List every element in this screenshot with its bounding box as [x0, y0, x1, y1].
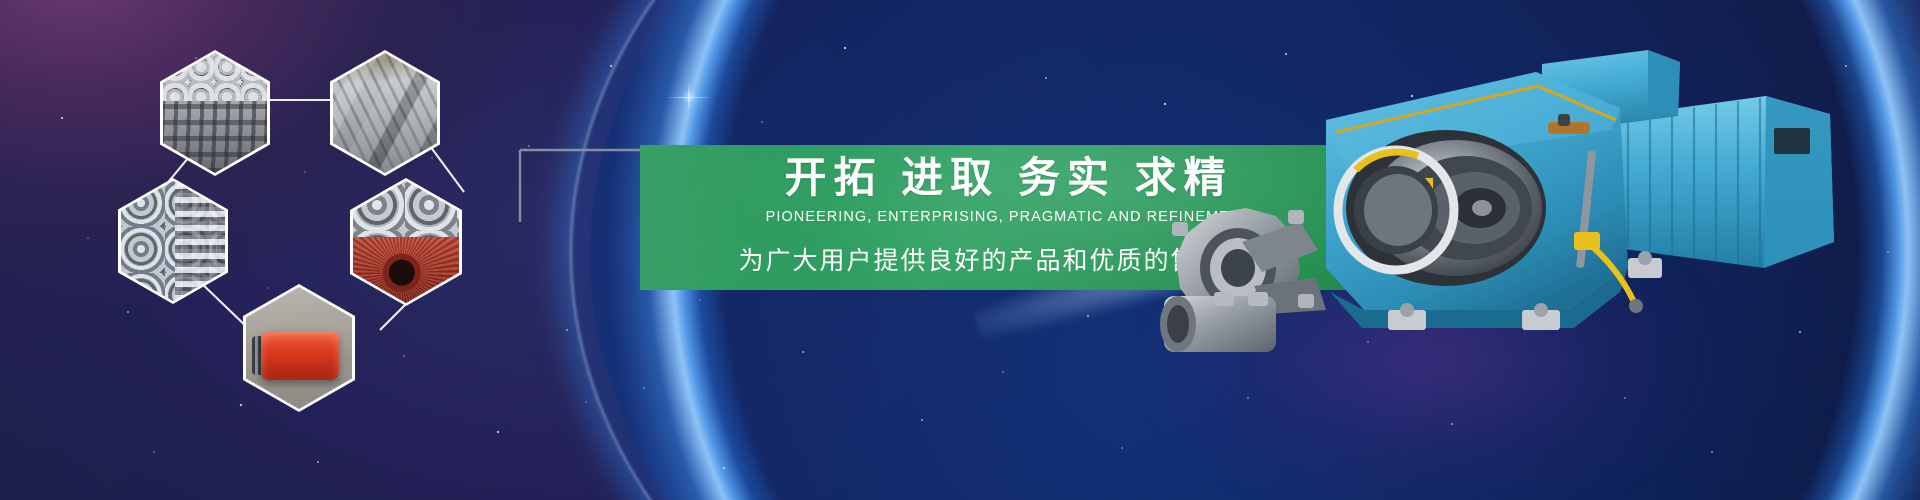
motor-nameplate	[1774, 128, 1810, 154]
machine-bushing-part	[1160, 292, 1276, 352]
machine-motor	[1602, 96, 1834, 268]
product-machine-image	[1150, 10, 1920, 370]
gearbox-bore	[1338, 130, 1546, 286]
banner-stage: 开拓 进取 务实 求精 PIONEERING, ENTERPRISING, PR…	[0, 0, 1920, 500]
